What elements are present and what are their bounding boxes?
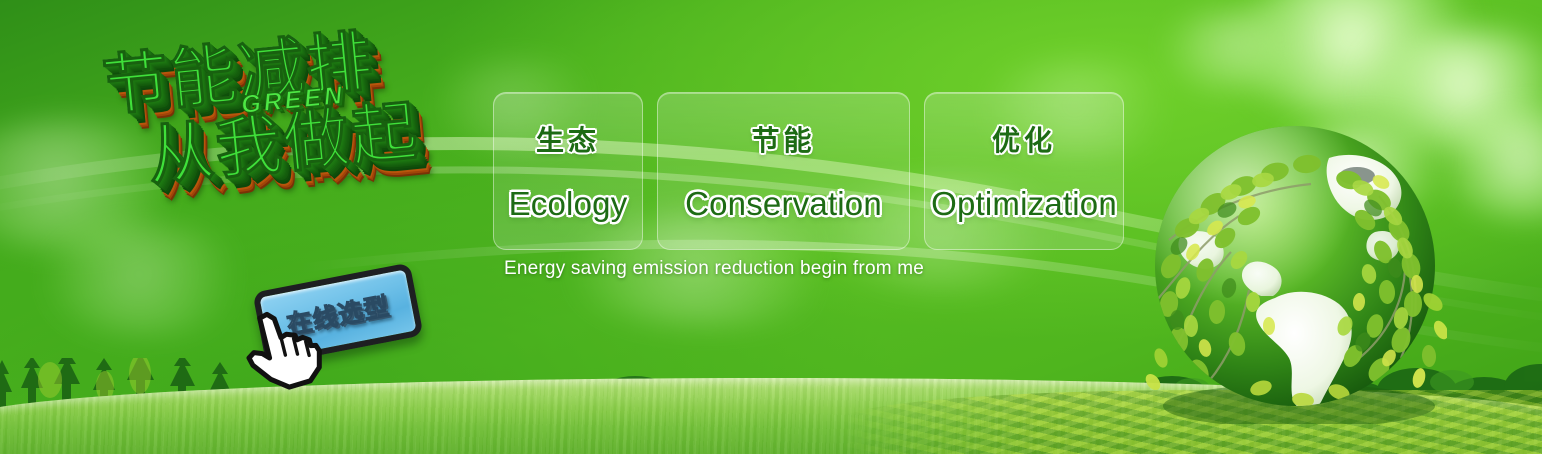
leaf-covered-globe-icon (1143, 120, 1447, 424)
banner-tagline: Energy saving emission reduction begin f… (504, 258, 924, 280)
pointing-hand-cursor-icon (238, 308, 324, 392)
cloud-icon (1230, 0, 1500, 120)
cloud-icon (1440, 110, 1542, 220)
cloud-icon (1160, 10, 1320, 90)
feature-card-en-label: Optimization (931, 185, 1117, 223)
eco-banner: 节能减排 GREEN 从我做起 在线选型 生态 Ecology 节能 Conse… (0, 0, 1542, 454)
feature-card-optimization[interactable]: 优化 Optimization (924, 92, 1124, 250)
feature-card-list: 生态 Ecology 节能 Conservation 优化 Optimizati… (493, 92, 1124, 250)
feature-card-cn-label: 节能 (751, 119, 815, 159)
headline-group: 节能减排 GREEN 从我做起 (86, 17, 506, 284)
feature-card-en-label: Ecology (509, 185, 628, 223)
feature-card-cn-label: 生态 (536, 119, 600, 159)
feature-card-conservation[interactable]: 节能 Conservation (657, 92, 910, 250)
feature-card-en-label: Conservation (685, 185, 882, 223)
feature-card-cn-label: 优化 (992, 119, 1056, 159)
feature-card-ecology[interactable]: 生态 Ecology (493, 92, 643, 250)
